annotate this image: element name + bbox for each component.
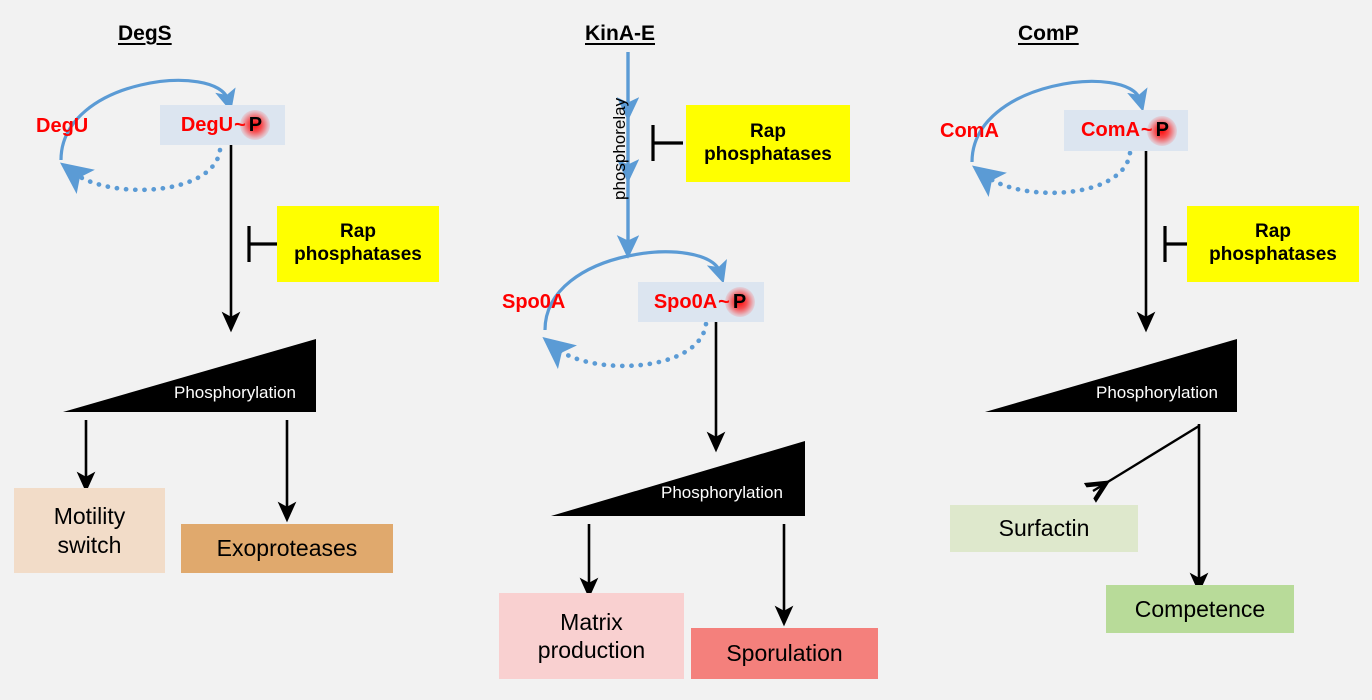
phosphate-group-icon: P — [247, 114, 264, 137]
kinae-dephosphorylation-arrow — [556, 324, 706, 366]
gradient-label-comp: Phosphorylation — [1096, 383, 1218, 403]
phosphate-letter: P — [249, 114, 262, 136]
comp-to-surfactin-arrow — [1093, 426, 1199, 491]
rap-label-line2: phosphatases — [1209, 244, 1337, 267]
rap-phosphatases-box-kinae: Rap phosphatases — [686, 105, 850, 182]
rap-label-line1: Rap — [294, 221, 422, 244]
motility-line2: switch — [54, 531, 126, 559]
phospho-protein-name: ComA — [1081, 119, 1140, 142]
phosphate-letter: P — [1156, 119, 1169, 141]
outcome-box-exoproteases: Exoproteases — [181, 524, 393, 573]
kinae-inhibition-bar — [653, 125, 683, 161]
outcome-box-sporulation: Sporulation — [691, 628, 878, 679]
phospho-box-degu-p: DegU~P — [160, 105, 285, 145]
protein-label-spo0a: Spo0A — [502, 291, 565, 314]
phospho-protein-name: Spo0A — [654, 291, 717, 314]
gradient-label-degs: Phosphorylation — [174, 383, 296, 403]
protein-label-coma: ComA — [940, 120, 999, 143]
sporulation-label: Sporulation — [726, 639, 842, 667]
column-title-comp: ComP — [1018, 22, 1079, 46]
surfactin-label: Surfactin — [999, 514, 1090, 542]
motility-line1: Motility — [54, 502, 126, 530]
phosphorelay-label: phosphorelay — [610, 199, 630, 200]
phospho-protein-name: DegU — [181, 114, 233, 137]
rap-phosphatases-box-comp: Rap phosphatases — [1187, 206, 1359, 282]
exoproteases-label: Exoproteases — [217, 534, 358, 562]
degs-dephosphorylation-arrow — [74, 150, 220, 190]
outcome-box-surfactin: Surfactin — [950, 505, 1138, 552]
phospho-box-coma-p: ComA~P — [1064, 110, 1188, 151]
outcome-box-matrix-production: Matrix production — [499, 593, 684, 679]
rap-phosphatases-box-degs: Rap phosphatases — [277, 206, 439, 282]
rap-label-line2: phosphatases — [294, 244, 422, 267]
phosphate-letter: P — [733, 291, 746, 313]
competence-label: Competence — [1135, 595, 1265, 623]
outcome-box-motility-switch: Motility switch — [14, 488, 165, 573]
kinae-phosphorylation-gradient — [551, 441, 805, 516]
rap-label-line2: phosphatases — [704, 144, 832, 167]
column-title-degs: DegS — [118, 22, 172, 46]
diagram-canvas: DegS DegU DegU~P Rap phosphatases Phosph… — [0, 0, 1372, 700]
outcome-box-competence: Competence — [1106, 585, 1294, 633]
protein-label-degu: DegU — [36, 115, 88, 138]
phosphorelay-label-wrapper: phosphorelay — [610, 200, 611, 201]
degs-inhibition-bar — [249, 226, 277, 262]
rap-label-line1: Rap — [1209, 221, 1337, 244]
phosphate-group-icon: P — [1154, 119, 1171, 142]
rap-label-line1: Rap — [704, 121, 832, 144]
gradient-label-kinae: Phosphorylation — [661, 483, 783, 503]
matrix-line1: Matrix — [538, 608, 645, 636]
phospho-box-spo0a-p: Spo0A~P — [638, 282, 764, 322]
column-title-kina-e: KinA-E — [585, 22, 655, 46]
comp-dephosphorylation-arrow — [986, 153, 1130, 193]
matrix-line2: production — [538, 636, 645, 664]
phosphate-group-icon: P — [731, 291, 748, 314]
